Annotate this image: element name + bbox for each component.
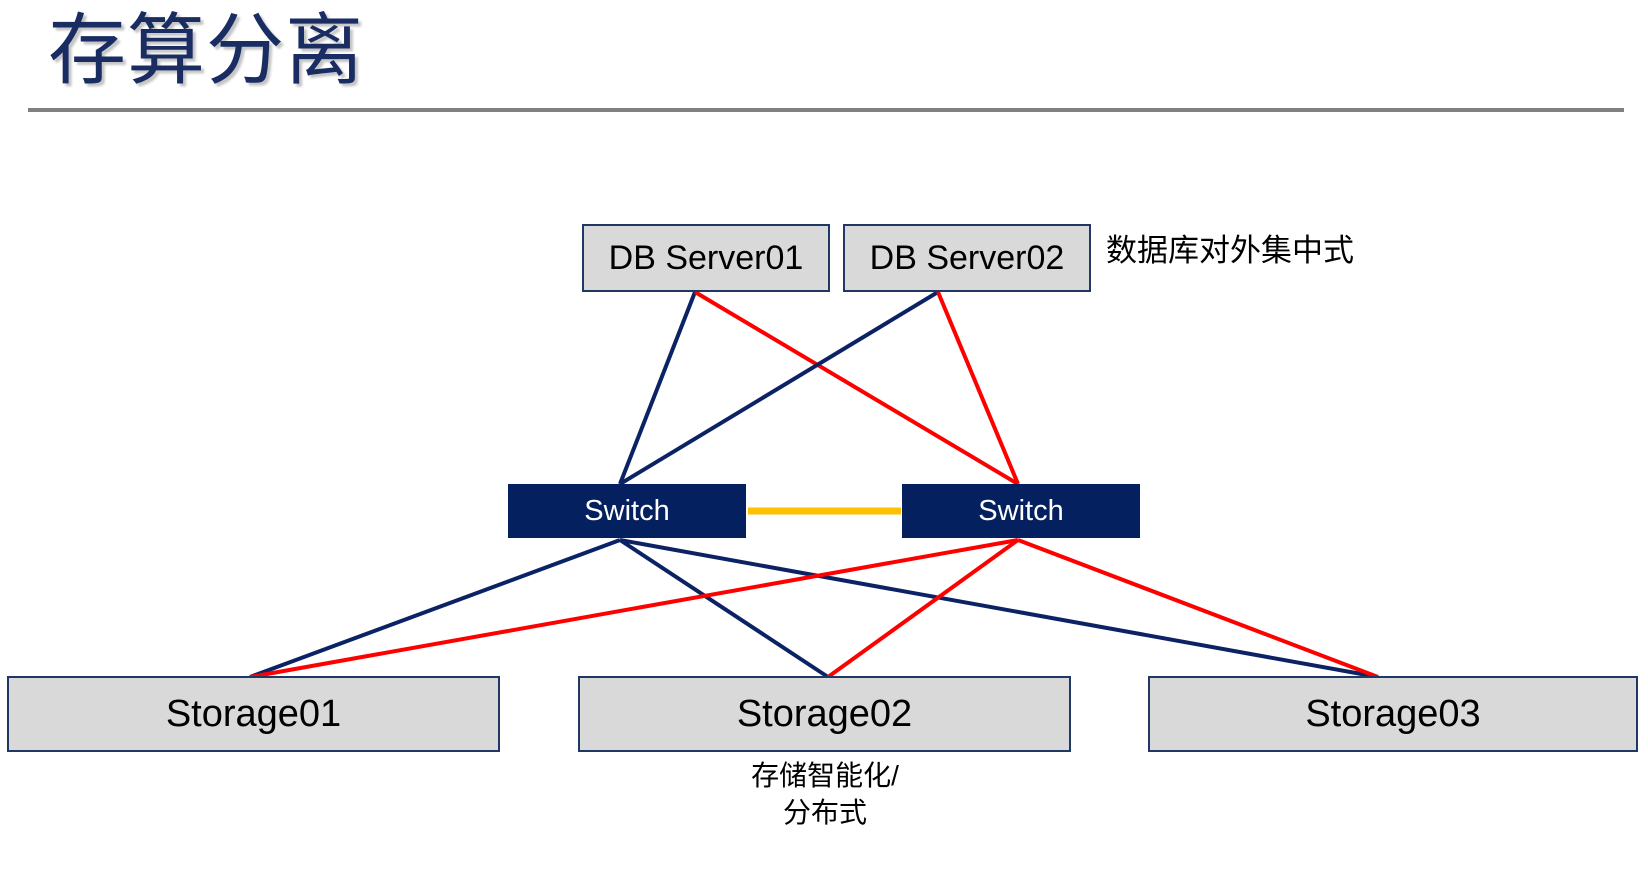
node-label: Storage03 — [1305, 693, 1480, 736]
link-db-server01-to-switch2 — [695, 292, 1018, 484]
node-label: Storage02 — [737, 693, 912, 736]
node-label: DB Server01 — [609, 239, 804, 278]
node-storage-02[interactable]: Storage02 — [578, 676, 1071, 752]
node-db-server-01[interactable]: DB Server01 — [582, 224, 830, 292]
link-switch1-to-storage01 — [250, 540, 620, 677]
node-label: Switch — [584, 495, 669, 528]
node-label: DB Server02 — [870, 239, 1065, 278]
node-label: Storage01 — [166, 693, 341, 736]
annotation-storage-distributed: 存储智能化/ 分布式 — [700, 758, 950, 832]
node-label: Switch — [978, 495, 1063, 528]
link-db-server02-to-switch2 — [938, 292, 1018, 484]
slide-canvas: 存算分离 DB Server01 DB Server02 Switch Swit… — [0, 0, 1648, 886]
connection-layer — [0, 0, 1648, 886]
annotation-database-centralized: 数据库对外集中式 — [1106, 225, 1354, 270]
link-switch1-to-storage03 — [620, 540, 1378, 677]
link-db-server02-to-switch1 — [620, 292, 938, 484]
node-switch-01[interactable]: Switch — [508, 484, 746, 538]
link-switch2-to-storage03 — [1018, 540, 1378, 677]
connection-lines — [250, 292, 1378, 677]
link-db-server01-to-switch1 — [620, 292, 695, 484]
node-db-server-02[interactable]: DB Server02 — [843, 224, 1091, 292]
node-storage-01[interactable]: Storage01 — [7, 676, 500, 752]
link-switch2-to-storage01 — [250, 540, 1018, 677]
node-switch-02[interactable]: Switch — [902, 484, 1140, 538]
node-storage-03[interactable]: Storage03 — [1148, 676, 1638, 752]
